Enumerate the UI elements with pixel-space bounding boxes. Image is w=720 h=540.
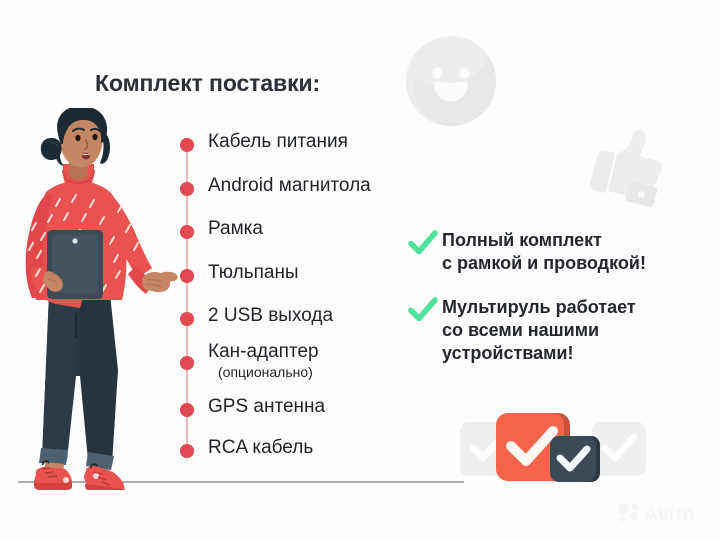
- list-item-label: Рамка: [208, 219, 263, 239]
- bullet-dot: [180, 312, 194, 326]
- bullet-dot: [180, 269, 194, 283]
- list-item-label: GPS антенна: [208, 397, 325, 417]
- list-item-label: Кабель питания: [208, 132, 348, 152]
- smiley-face-icon: [404, 34, 498, 128]
- bullet-dot: [180, 182, 194, 196]
- package-list: Кабель питания Android магнитола Рамка Т…: [176, 138, 426, 458]
- benefit-item: Мультируль работает со всеми нашими устр…: [408, 296, 636, 365]
- list-item-label: Кан-адаптер: [208, 342, 319, 362]
- avito-watermark: Avito: [614, 500, 706, 526]
- checkbox-cards-illustration: [458, 408, 648, 488]
- bullet-dot: [180, 138, 194, 152]
- check-icon: [408, 230, 438, 256]
- benefit-text: Мультируль работает со всеми нашими устр…: [442, 296, 636, 365]
- avito-wordmark: Avito: [643, 503, 695, 526]
- list-item-label: Тюльпаны: [208, 263, 299, 283]
- ad-banner-canvas: Комплект поставки: Кабель питания Androi…: [0, 0, 720, 540]
- list-item-sublabel: (опционально): [218, 364, 313, 380]
- bullet-dot: [180, 444, 194, 458]
- benefit-item: Полный комплект с рамкой и проводкой!: [408, 229, 646, 275]
- list-item-label: Android магнитола: [208, 176, 371, 196]
- bullet-dot: [180, 356, 194, 370]
- benefit-text: Полный комплект с рамкой и проводкой!: [442, 229, 646, 275]
- page-title: Комплект поставки:: [95, 70, 320, 97]
- check-icon: [408, 297, 438, 323]
- list-item-label: 2 USB выхода: [208, 306, 333, 326]
- bullet-dot: [180, 403, 194, 417]
- bullet-dot: [180, 225, 194, 239]
- list-item-label: RCA кабель: [208, 438, 313, 458]
- woman-with-tablet-illustration: [6, 108, 181, 490]
- thumbs-up-icon: [574, 112, 678, 216]
